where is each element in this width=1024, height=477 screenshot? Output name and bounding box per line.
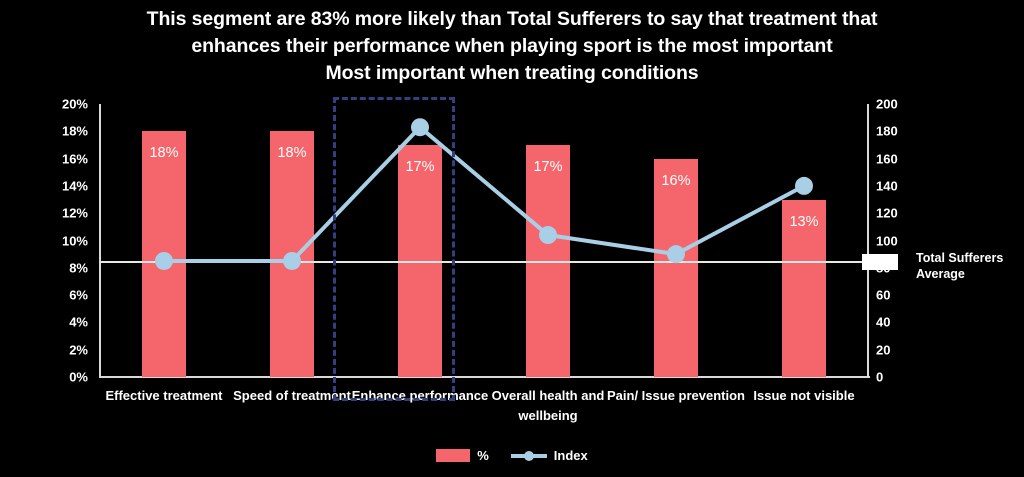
bar-value-label-0: 18% [149,145,178,161]
index-line-path [164,127,804,261]
index-point-2[interactable] [411,118,429,136]
index-point-1[interactable] [283,252,301,270]
index-point-4[interactable] [667,245,685,263]
index-point-5[interactable] [795,177,813,195]
index-point-3[interactable] [539,226,557,244]
bar-value-label-2: 17% [405,159,434,175]
bar-value-label-4: 16% [661,173,690,189]
index-point-0[interactable] [155,252,173,270]
bar-value-label-3: 17% [533,159,562,175]
index-line-series [0,0,1024,477]
chart-canvas: This segment are 83% more likely than To… [0,0,1024,477]
bar-value-label-1: 18% [277,145,306,161]
bar-value-label-5: 13% [789,214,818,230]
